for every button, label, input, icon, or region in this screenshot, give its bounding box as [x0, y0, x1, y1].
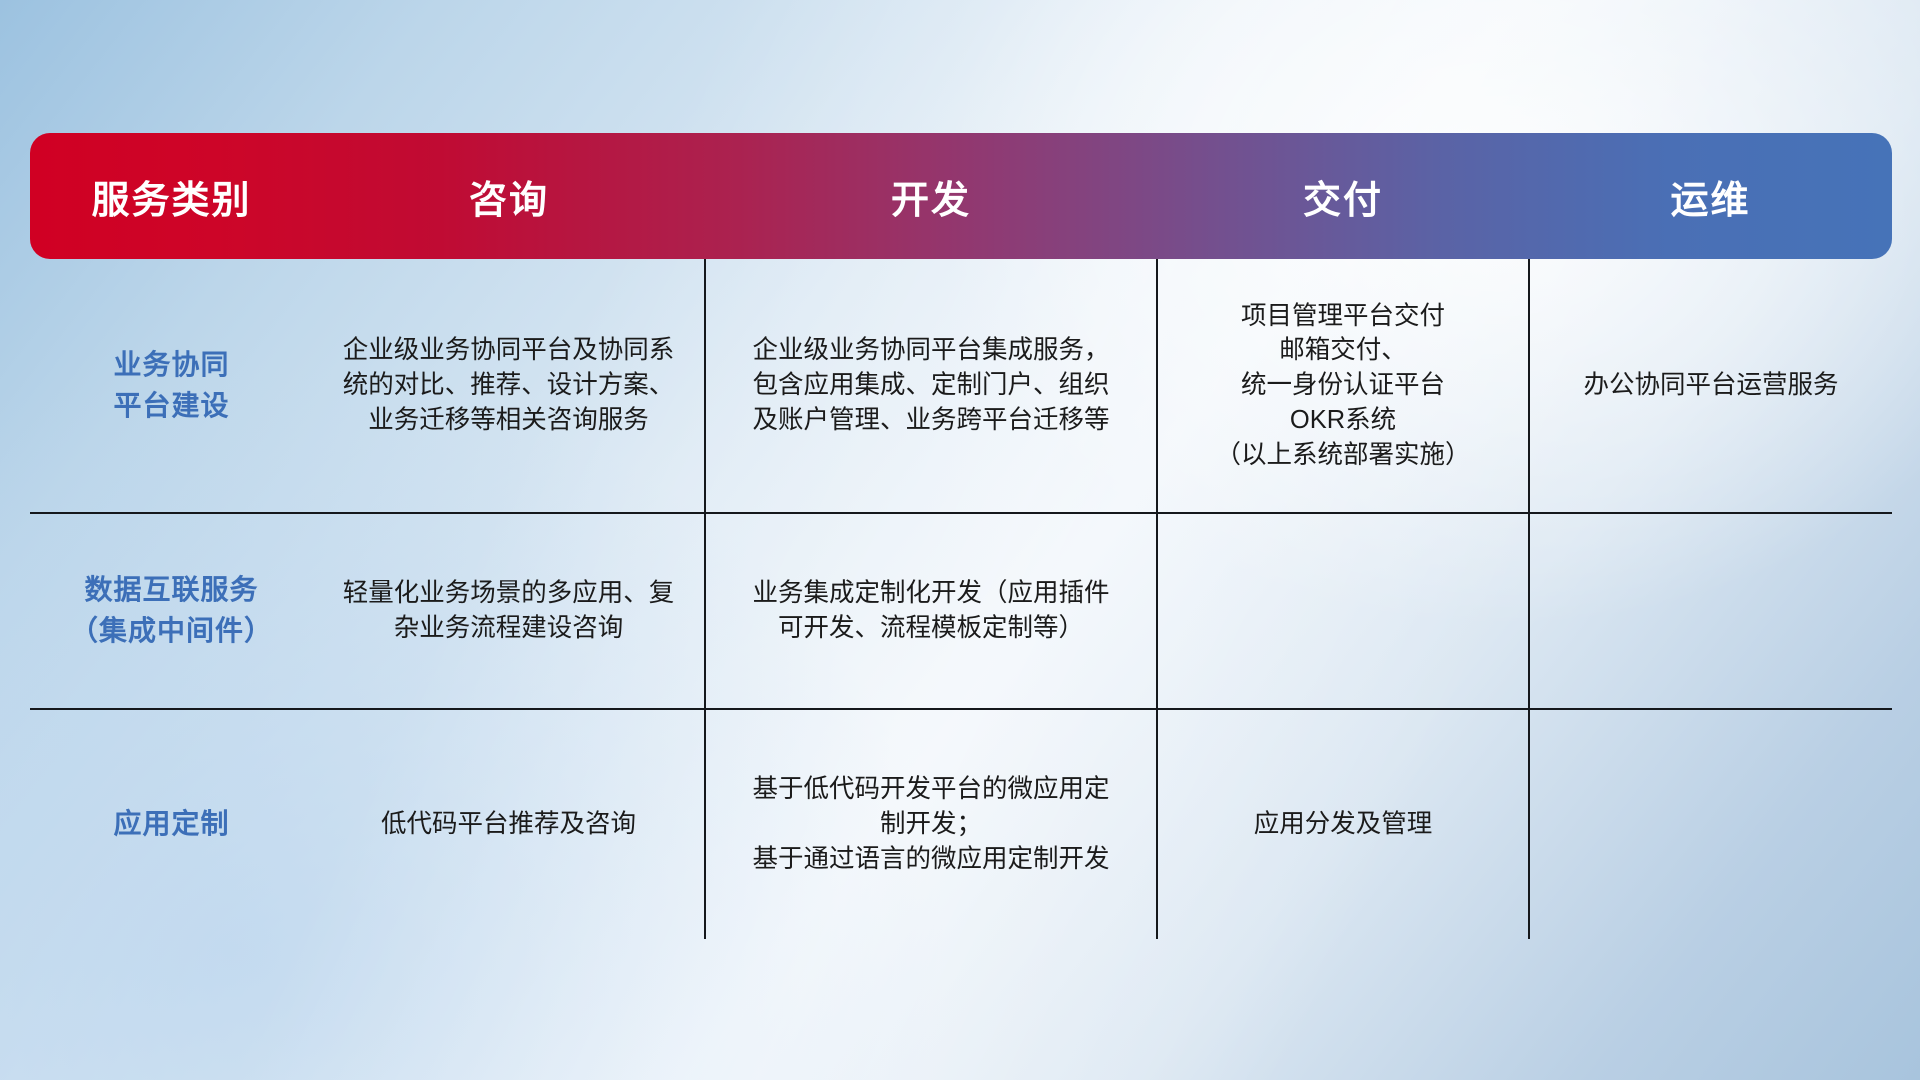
- cell-delivery-row1: 项目管理平台交付 邮箱交付、 统一身份认证平台 OKR系统 （以上系统部署实施）: [1157, 259, 1529, 513]
- cell-consulting-row3: 低代码平台推荐及咨询: [313, 709, 705, 939]
- table-header: 服务类别 咨询 开发 交付 运维: [30, 133, 1892, 259]
- cell-operations-row1: 办公协同平台运营服务: [1529, 259, 1892, 513]
- cell-development-row1: 企业级业务协同平台集成服务， 包含应用集成、定制门户、组织 及账户管理、业务跨平…: [705, 259, 1157, 513]
- cell-operations-row2: [1529, 513, 1892, 709]
- operations-text-row1: 办公协同平台运营服务: [1544, 368, 1878, 403]
- cell-development-row3: 基于低代码开发平台的微应用定 制开发； 基于通过语言的微应用定制开发: [705, 709, 1157, 939]
- header-cell-consulting: 咨询: [313, 133, 705, 259]
- cell-category-row3: 应用定制: [30, 709, 313, 939]
- cell-development-row2: 业务集成定制化开发（应用插件 可开发、流程模板定制等）: [705, 513, 1157, 709]
- cell-category-row2: 数据互联服务 （集成中间件）: [30, 513, 313, 709]
- header-cell-development: 开发: [705, 133, 1157, 259]
- category-label-row1: 业务协同 平台建设: [44, 345, 299, 426]
- development-text-row1: 企业级业务协同平台集成服务， 包含应用集成、定制门户、组织 及账户管理、业务跨平…: [720, 333, 1142, 437]
- header-row: 服务类别 咨询 开发 交付 运维: [30, 133, 1892, 259]
- header-cell-service-category: 服务类别: [30, 133, 313, 259]
- cell-category-row1: 业务协同 平台建设: [30, 259, 313, 513]
- service-matrix-table-wrapper: 服务类别 咨询 开发 交付 运维 业务协同 平台建设 企业级业务协同平台及协同系…: [30, 133, 1892, 939]
- slide-page: 服务类别 咨询 开发 交付 运维 业务协同 平台建设 企业级业务协同平台及协同系…: [0, 0, 1920, 1080]
- table-row: 应用定制 低代码平台推荐及咨询 基于低代码开发平台的微应用定 制开发； 基于通过…: [30, 709, 1892, 939]
- service-matrix-table: 服务类别 咨询 开发 交付 运维 业务协同 平台建设 企业级业务协同平台及协同系…: [30, 133, 1892, 939]
- header-cell-operations: 运维: [1529, 133, 1892, 259]
- development-text-row2: 业务集成定制化开发（应用插件 可开发、流程模板定制等）: [720, 576, 1142, 645]
- consulting-text-row2: 轻量化业务场景的多应用、复 杂业务流程建设咨询: [327, 576, 690, 645]
- cell-operations-row3: [1529, 709, 1892, 939]
- table-row: 数据互联服务 （集成中间件） 轻量化业务场景的多应用、复 杂业务流程建设咨询 业…: [30, 513, 1892, 709]
- development-text-row3: 基于低代码开发平台的微应用定 制开发； 基于通过语言的微应用定制开发: [720, 772, 1142, 876]
- table-body: 业务协同 平台建设 企业级业务协同平台及协同系 统的对比、推荐、设计方案、 业务…: [30, 259, 1892, 939]
- delivery-text-row1: 项目管理平台交付 邮箱交付、 统一身份认证平台 OKR系统 （以上系统部署实施）: [1172, 299, 1514, 472]
- consulting-text-row3: 低代码平台推荐及咨询: [327, 807, 690, 842]
- consulting-text-row1: 企业级业务协同平台及协同系 统的对比、推荐、设计方案、 业务迁移等相关咨询服务: [327, 333, 690, 437]
- category-label-row2: 数据互联服务 （集成中间件）: [44, 570, 299, 651]
- cell-consulting-row2: 轻量化业务场景的多应用、复 杂业务流程建设咨询: [313, 513, 705, 709]
- delivery-text-row3: 应用分发及管理: [1172, 807, 1514, 842]
- cell-delivery-row3: 应用分发及管理: [1157, 709, 1529, 939]
- category-label-row3: 应用定制: [44, 804, 299, 845]
- table-row: 业务协同 平台建设 企业级业务协同平台及协同系 统的对比、推荐、设计方案、 业务…: [30, 259, 1892, 513]
- cell-consulting-row1: 企业级业务协同平台及协同系 统的对比、推荐、设计方案、 业务迁移等相关咨询服务: [313, 259, 705, 513]
- header-cell-delivery: 交付: [1157, 133, 1529, 259]
- cell-delivery-row2: [1157, 513, 1529, 709]
